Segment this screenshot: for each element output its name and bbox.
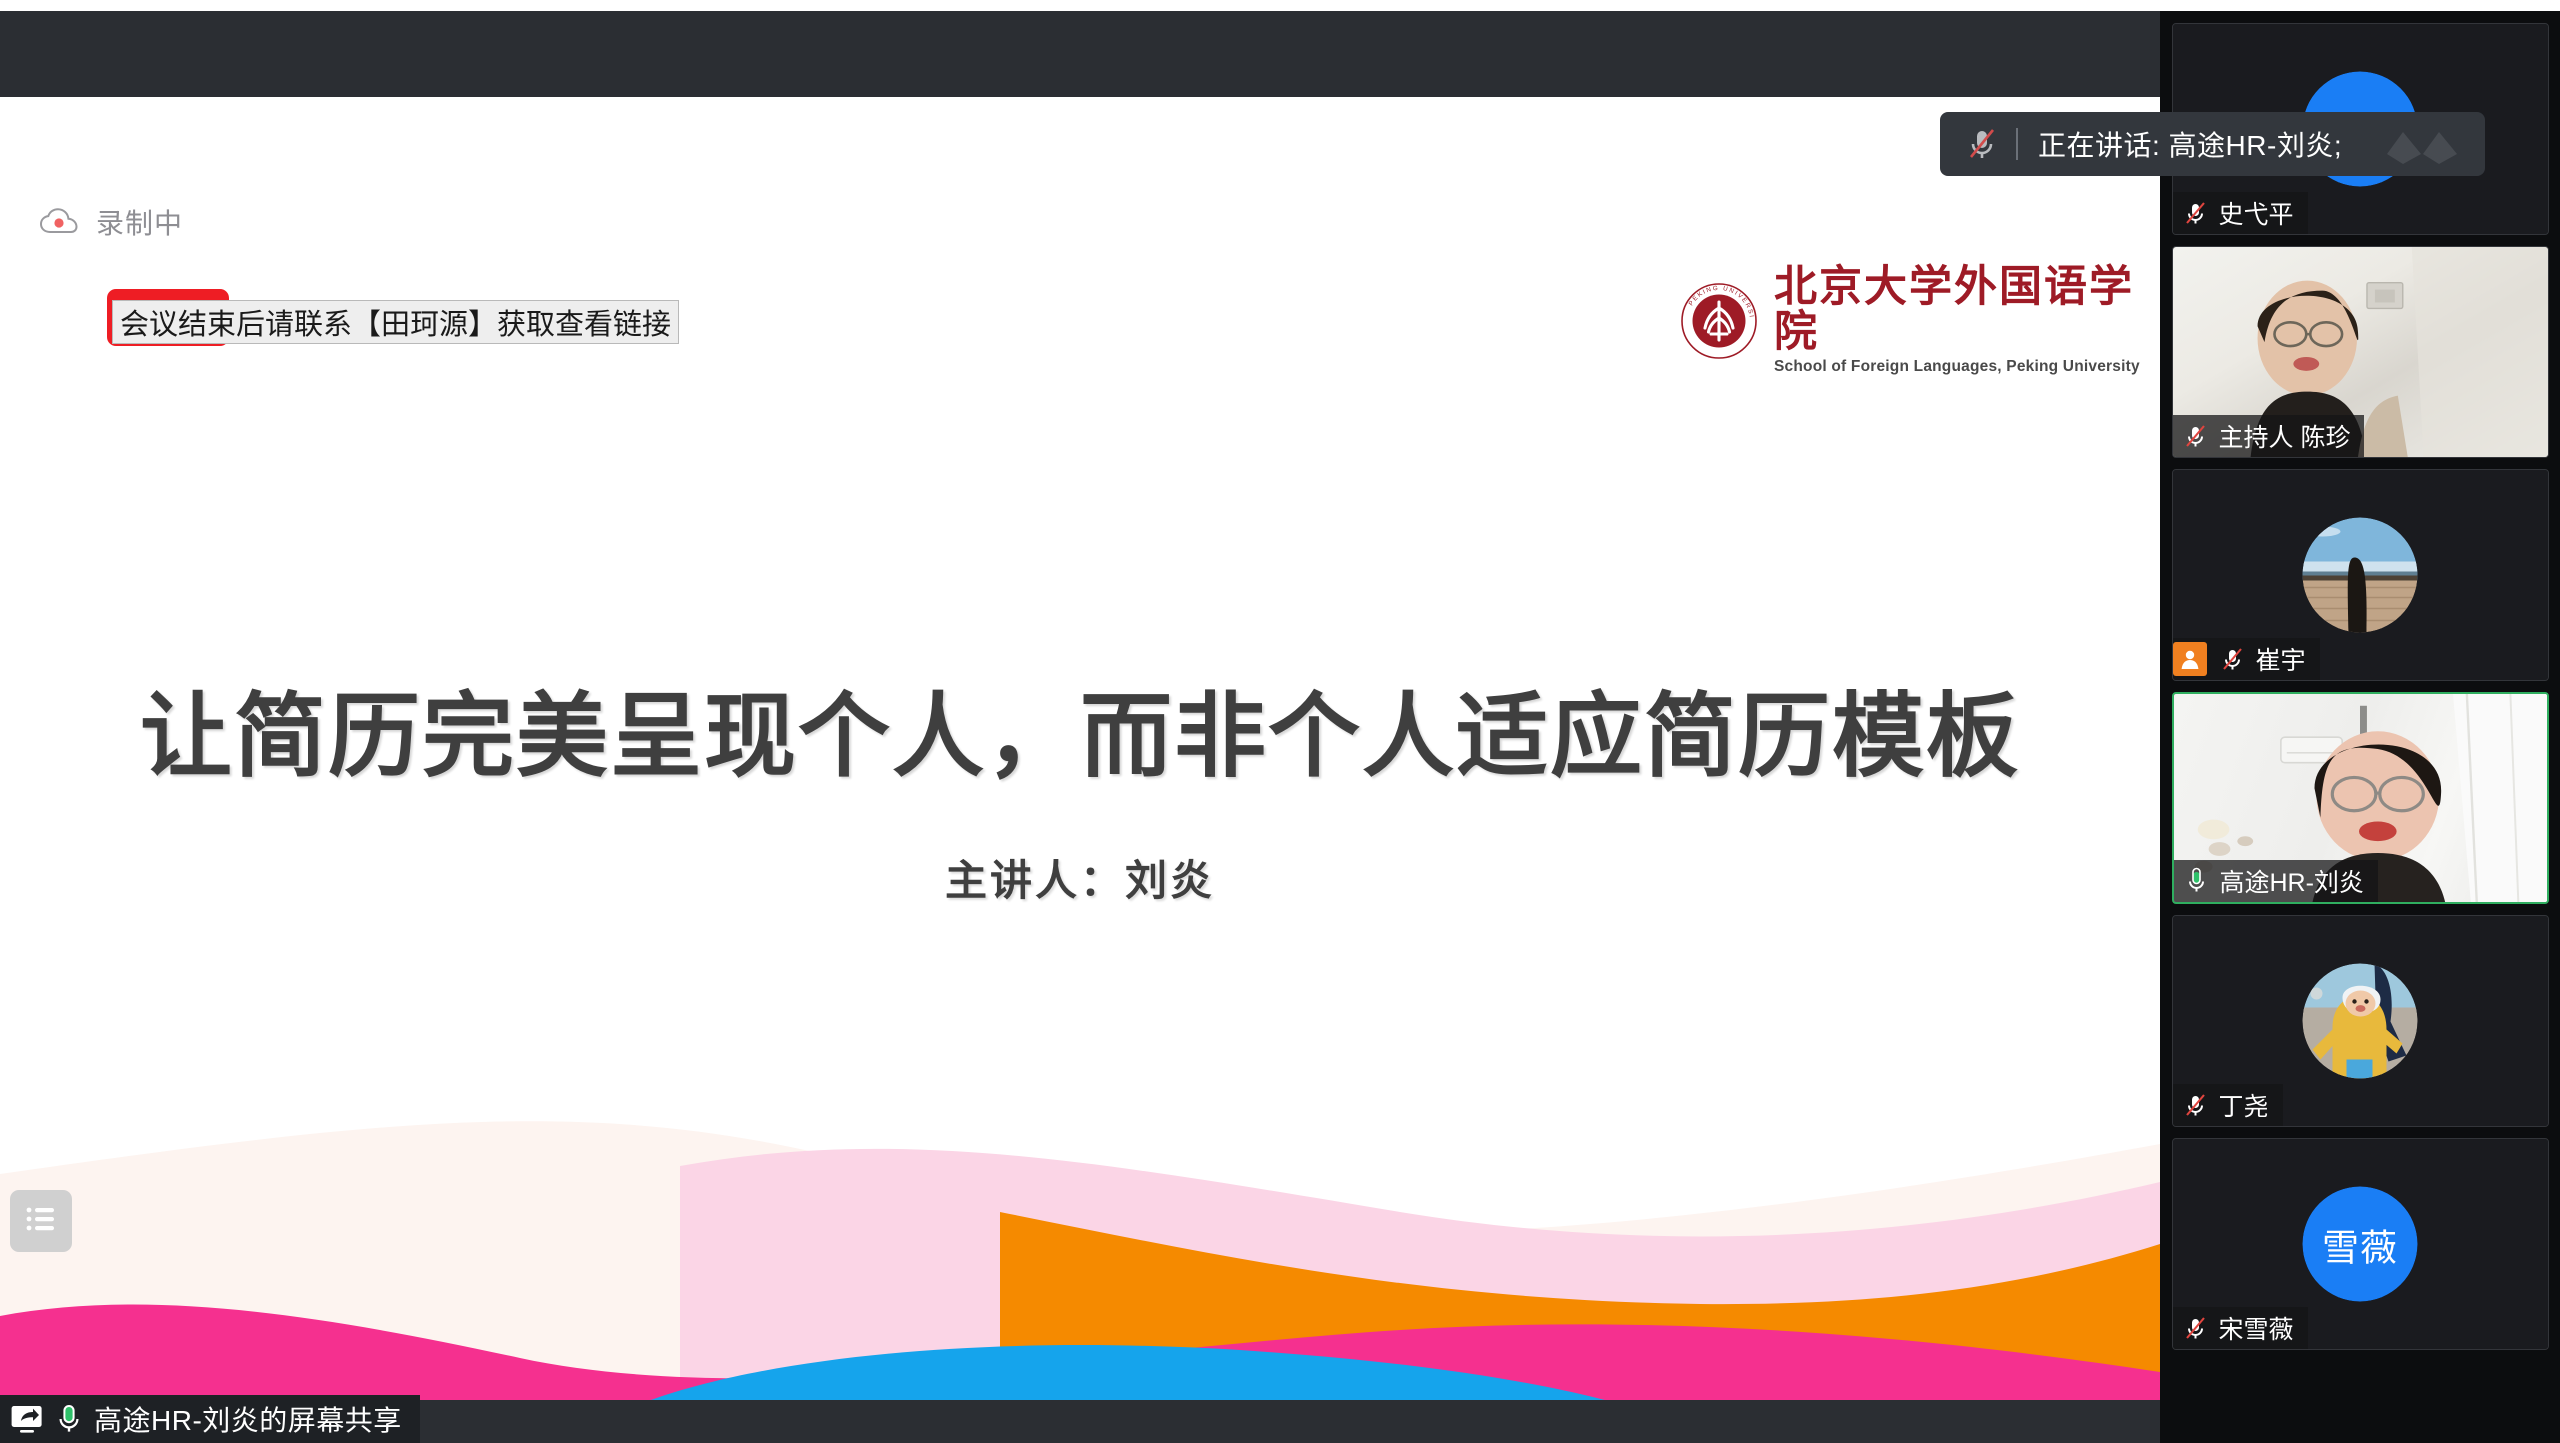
participant-name: 宋雪薇	[2219, 1310, 2294, 1346]
mic-muted-icon	[2181, 199, 2210, 228]
slide-subtitle: 主讲人：刘炎	[0, 847, 2160, 908]
screen-share-owner-label: 高途HR-刘炎的屏幕共享	[94, 1399, 402, 1439]
participant-tile[interactable]: 主持人 陈珍	[2172, 246, 2549, 458]
slide-annotation-textbox[interactable]: 会议结束后请联系【田珂源】获取查看链接	[112, 300, 679, 344]
cloud-record-icon	[40, 208, 80, 236]
participant-name: 高途HR-刘炎	[2220, 863, 2364, 899]
mic-muted-icon	[2181, 1314, 2210, 1343]
shared-screen-stage[interactable]: 录制中 会议结束后请联系【田珂源】获取查看链接 PEKING UNIVERSIT…	[0, 97, 2160, 1404]
active-speaker-text: 正在讲话: 高途HR-刘炎;	[2038, 124, 2342, 164]
mic-muted-icon	[2218, 645, 2247, 674]
active-speaker-banner[interactable]: 正在讲话: 高途HR-刘炎;	[1940, 112, 2485, 176]
screen-share-status-bar[interactable]: 高途HR-刘炎的屏幕共享	[0, 1395, 420, 1443]
participant-tile[interactable]: 崔宇	[2172, 469, 2549, 681]
participant-tile-active-speaker[interactable]: 高途HR-刘炎	[2172, 692, 2549, 904]
pku-school-logo: PEKING UNIVERSITY 1898 北京大学外国语学院 School …	[1680, 265, 2160, 376]
slide-list-icon	[25, 1205, 57, 1238]
participant-tile[interactable]: 丁尧	[2172, 915, 2549, 1127]
tile-name-badge: 史弋平	[2173, 192, 2308, 234]
slide-list-button[interactable]	[10, 1190, 72, 1252]
tile-name-badge: 宋雪薇	[2173, 1307, 2308, 1349]
pku-logo-chinese: 北京大学外国语学院	[1774, 265, 2160, 355]
banner-divider	[2016, 128, 2018, 160]
tile-name-badge: 丁尧	[2173, 1084, 2283, 1126]
tile-name-badge: 高途HR-刘炎	[2174, 860, 2378, 902]
peking-university-seal-icon: PEKING UNIVERSITY 1898	[1680, 282, 1758, 360]
pku-logo-wordmark: 北京大学外国语学院 School of Foreign Languages, P…	[1774, 265, 2160, 376]
meeting-screen: 录制中 会议结束后请联系【田珂源】获取查看链接 PEKING UNIVERSIT…	[0, 0, 2560, 1443]
mic-muted-icon	[2181, 422, 2210, 451]
recording-label: 录制中	[96, 202, 183, 242]
recording-indicator: 录制中	[40, 202, 183, 242]
avatar	[2303, 518, 2418, 633]
avatar	[2303, 964, 2418, 1079]
mic-muted-icon	[1962, 124, 2002, 164]
top-white-strip	[0, 0, 2560, 11]
participant-name: 丁尧	[2219, 1087, 2269, 1123]
avatar: 雪薇	[2303, 1187, 2418, 1302]
tile-name-badge: 主持人 陈珍	[2173, 415, 2365, 457]
tile-name-badge: 崔宇	[2173, 638, 2320, 680]
mic-active-icon	[2182, 867, 2211, 896]
cohost-person-badge-icon	[2173, 642, 2207, 676]
screen-share-icon	[10, 1404, 44, 1434]
slide-title: 让简历完美呈现个人，而非个人适应简历模板	[0, 662, 2160, 795]
pku-logo-english: School of Foreign Languages, Peking Univ…	[1774, 358, 2160, 376]
avatar-initials: 雪薇	[2303, 1187, 2418, 1302]
slide-decoration-waves	[0, 1104, 2160, 1404]
participant-name: 崔宇	[2256, 641, 2306, 677]
participant-tile[interactable]: 雪薇 宋雪薇	[2172, 1138, 2549, 1350]
participant-strip[interactable]: 史弋平	[2160, 11, 2560, 1443]
participant-name: 主持人 陈珍	[2219, 418, 2351, 454]
mic-active-icon	[56, 1403, 82, 1435]
chevron-collapse-icon[interactable]	[2381, 124, 2463, 166]
participant-name: 史弋平	[2219, 195, 2294, 231]
mic-muted-icon	[2181, 1091, 2210, 1120]
